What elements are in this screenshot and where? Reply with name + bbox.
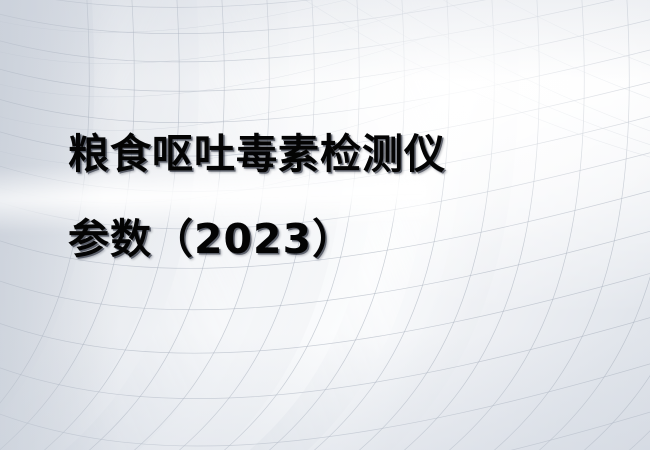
title-line-subtitle: 参数（2023） (68, 197, 608, 282)
title-banner: 粮食呕吐毒素检测仪 参数（2023） (0, 0, 650, 450)
title-line-product: 粮食呕吐毒素检测仪 (68, 112, 608, 197)
banner-title: 粮食呕吐毒素检测仪 参数（2023） (68, 112, 608, 282)
